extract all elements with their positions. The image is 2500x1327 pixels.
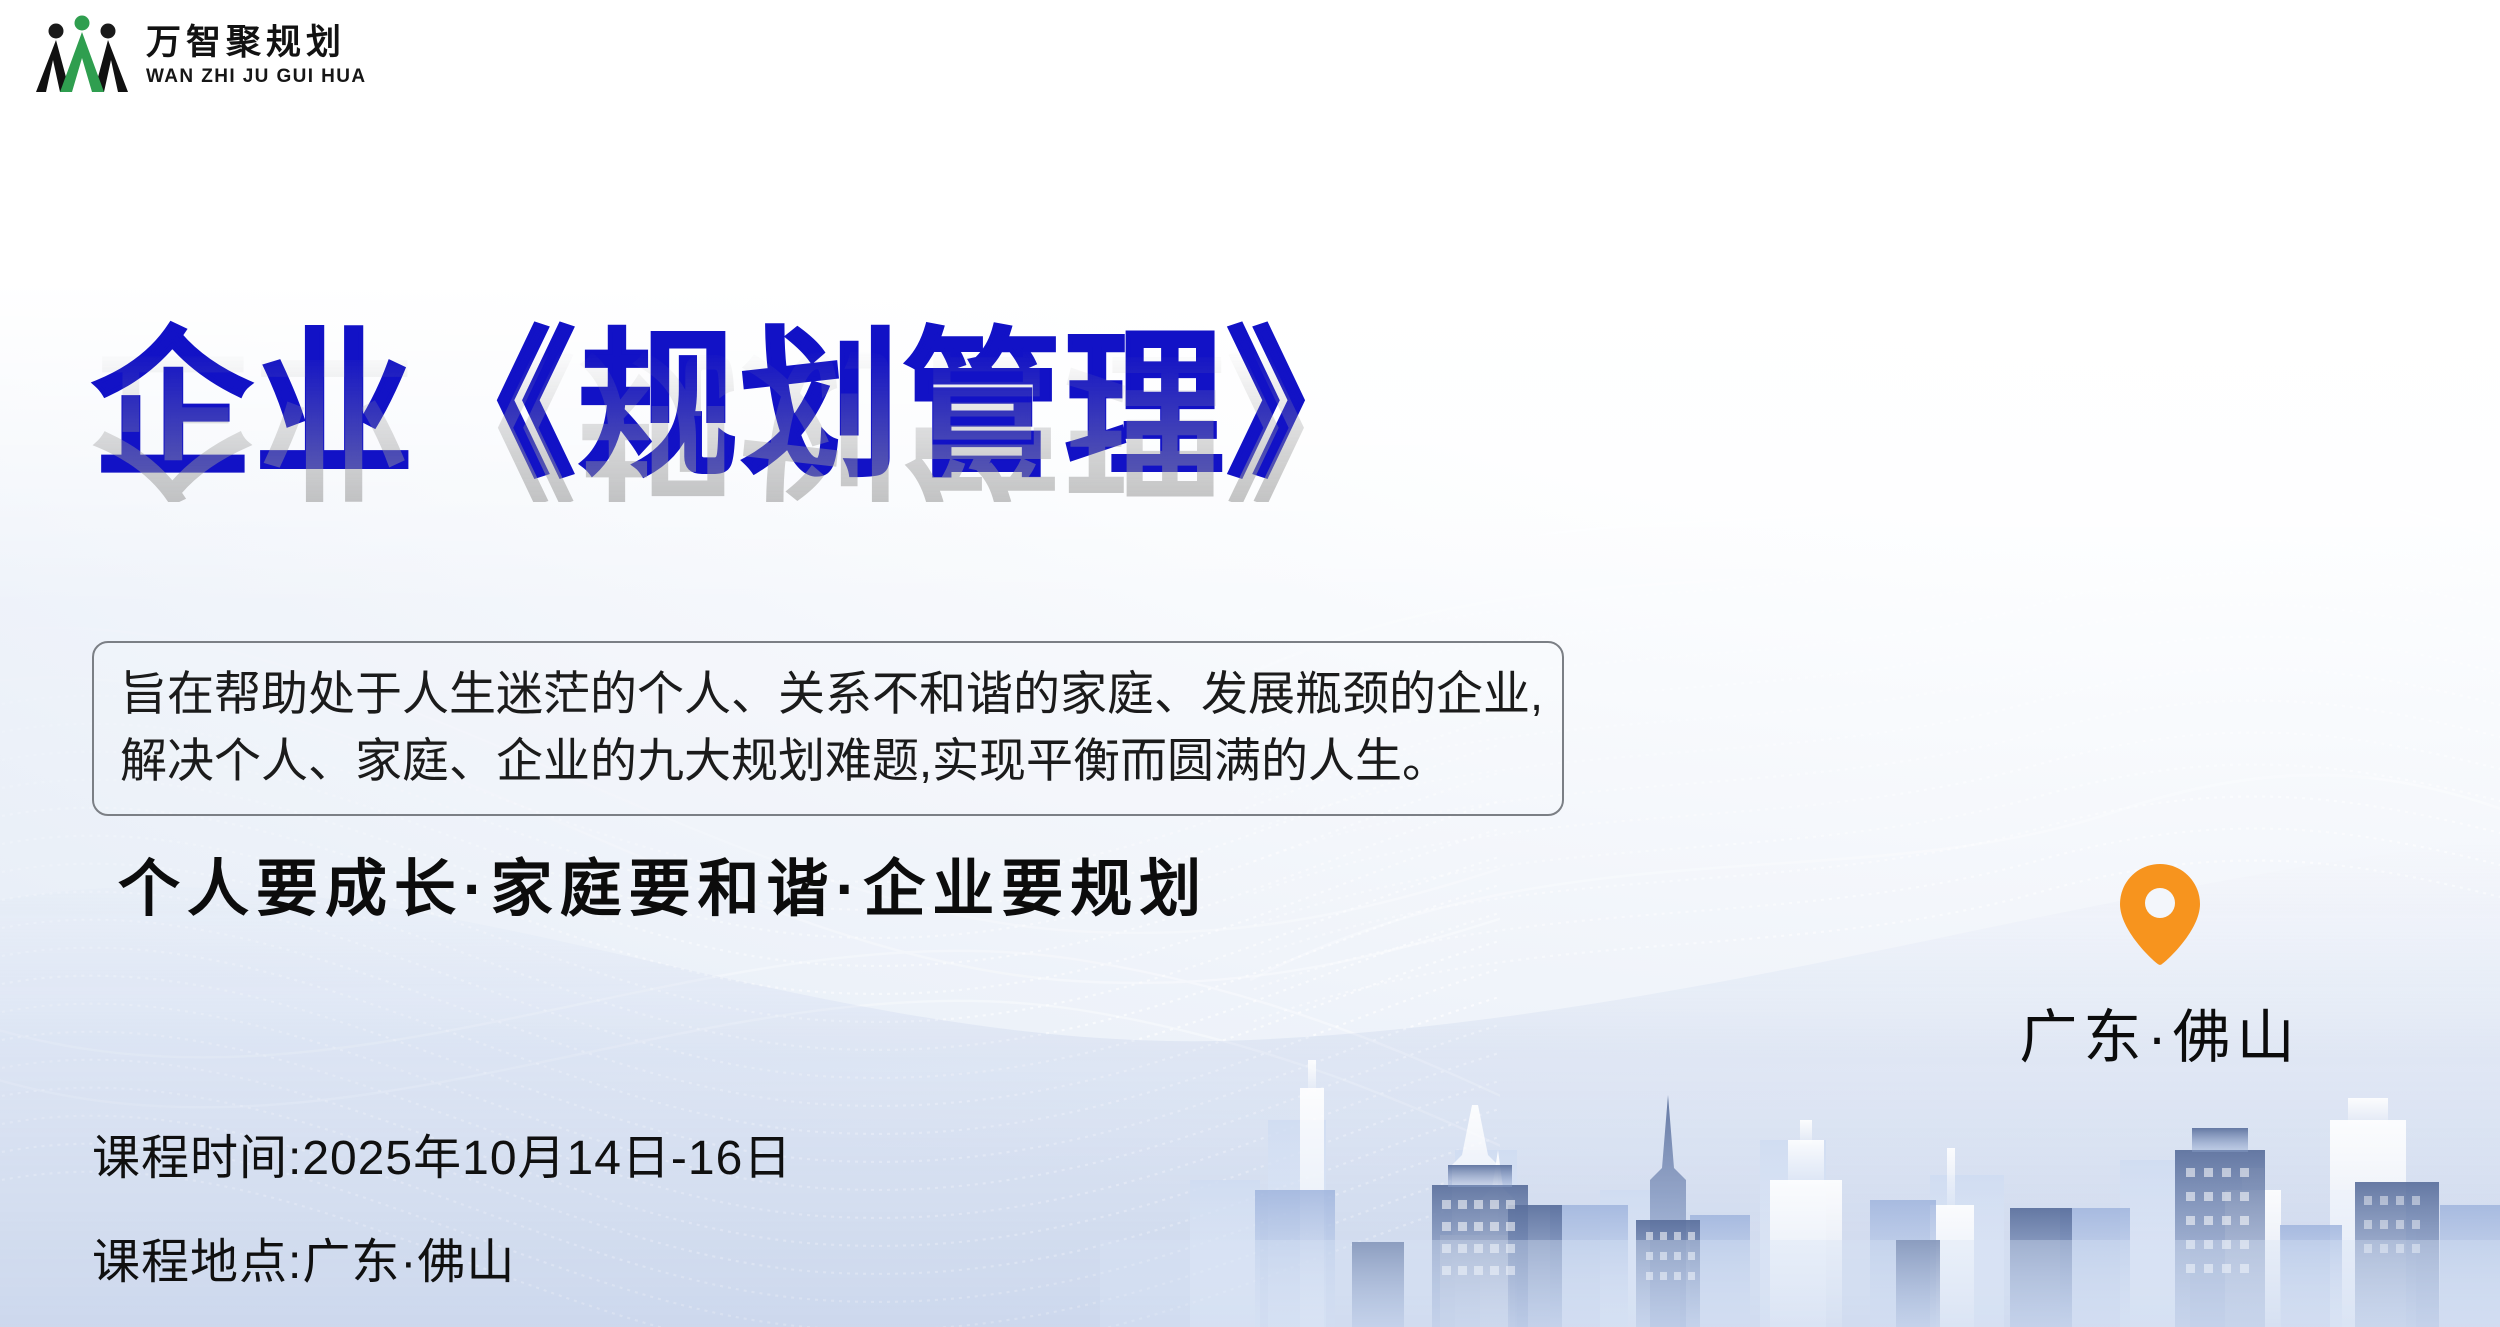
description-line-1: 旨在帮助处于人生迷茫的个人、关系不和谐的家庭、发展瓶颈的企业, xyxy=(120,661,1536,728)
course-place: 课程地点:广东·佛山 xyxy=(92,1222,792,1292)
course-date: 课程时间:2025年10月14日-16日 xyxy=(92,1118,792,1188)
course-info-block: 课程时间:2025年10月14日-16日 课程地点:广东·佛山 xyxy=(92,1118,792,1292)
description-box: 旨在帮助处于人生迷茫的个人、关系不和谐的家庭、发展瓶颈的企业, 解决个人、家庭、… xyxy=(92,641,1564,816)
brand-name-cn: 万智聚规划 xyxy=(146,25,366,60)
description-line-2: 解决个人、家庭、企业的九大规划难题,实现平衡而圆满的人生。 xyxy=(120,728,1536,795)
brand-logo: 万智聚规划 WAN ZHI JU GUI HUA xyxy=(34,14,366,96)
main-title-block: 企业《规划管理》 企业《规划管理》 xyxy=(92,326,1692,626)
location-label: 广东·佛山 xyxy=(2019,990,2300,1074)
location-block: 广东·佛山 xyxy=(1950,862,2370,1074)
brand-name-en: WAN ZHI JU GUI HUA xyxy=(146,67,366,86)
map-pin-icon xyxy=(2116,862,2204,966)
three-people-mountain-logo-icon xyxy=(34,14,130,96)
page-title-reflection: 企业《规划管理》 xyxy=(92,342,1388,502)
slogan-text: 个人要成长·家庭要和谐·企业要规划 xyxy=(118,838,1208,928)
poster-canvas: 万智聚规划 WAN ZHI JU GUI HUA 企业《规划管理》 企业《规划管… xyxy=(0,0,2500,1327)
